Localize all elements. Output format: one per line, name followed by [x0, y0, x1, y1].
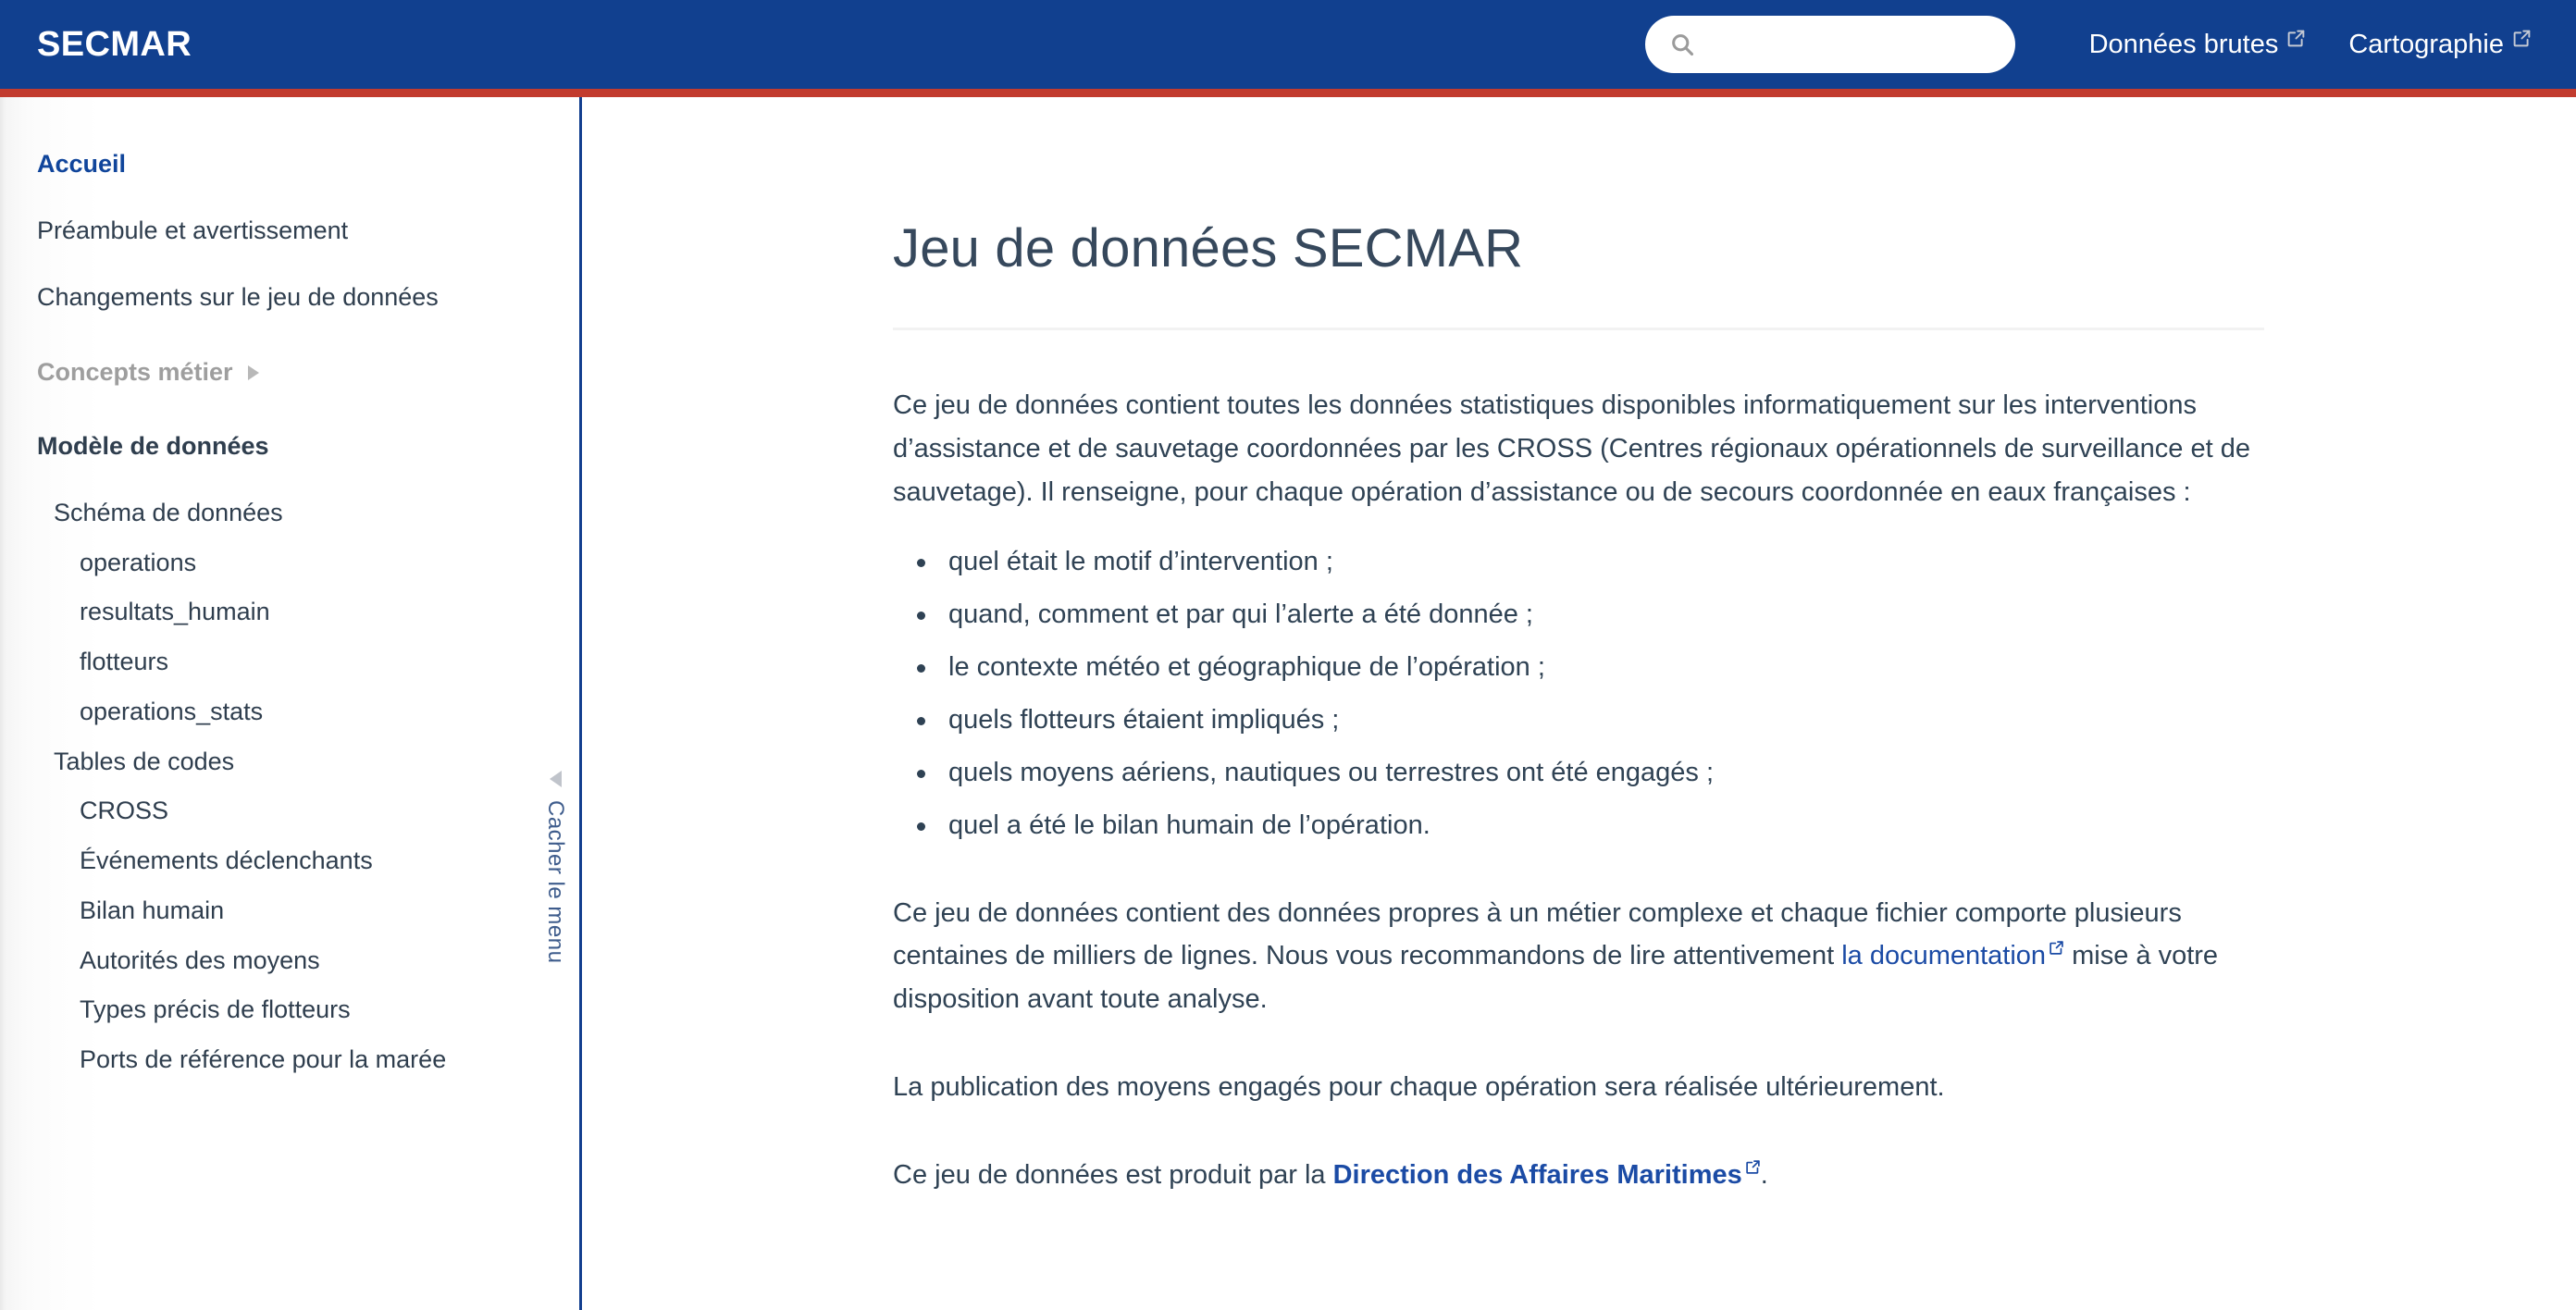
affaires-maritimes-link[interactable]: Direction des Affaires Maritimes — [1333, 1160, 1761, 1190]
producer-paragraph: Ce jeu de données est produit par la Dir… — [893, 1154, 2264, 1197]
sidebar-item-evenements-declenchants[interactable]: Événements déclenchants — [0, 836, 581, 886]
sidebar-group-label: Concepts métier — [37, 357, 233, 389]
main-content: Jeu de données SECMAR Ce jeu de données … — [581, 97, 2576, 1310]
app-root: SECMAR Données brutes Cartog — [0, 0, 2576, 1310]
external-link-icon — [1745, 1159, 1761, 1175]
search-input[interactable] — [1645, 16, 2015, 73]
list-item: quand, comment et par qui l’alerte a été… — [913, 593, 2264, 636]
caret-right-icon — [248, 365, 259, 380]
sidebar-list: Accueil Préambule et avertissement Chang… — [0, 140, 581, 1085]
list-item: quel a été le bilan humain de l’opératio… — [913, 804, 2264, 847]
publication-paragraph: La publication des moyens engagés pour c… — [893, 1066, 2264, 1109]
sidebar-item-schema-de-donnees[interactable]: Schéma de données — [0, 488, 581, 538]
documentation-link-label: la documentation — [1841, 941, 2046, 970]
external-link-icon — [2049, 940, 2064, 956]
sidebar-item-tables-de-codes[interactable]: Tables de codes — [0, 737, 581, 787]
sidebar-item-accueil[interactable]: Accueil — [0, 140, 581, 190]
hide-menu-label: Cacher le menu — [542, 800, 568, 963]
content-column: Jeu de données SECMAR Ce jeu de données … — [893, 97, 2264, 1197]
brand-title: SECMAR — [37, 27, 192, 62]
header-link-label: Données brutes — [2089, 31, 2279, 58]
external-link-icon — [2512, 29, 2532, 48]
sidebar-item-resultats-humain[interactable]: resultats_humain — [0, 587, 581, 637]
intro-paragraph: Ce jeu de données contient toutes les do… — [893, 384, 2264, 514]
accent-bar — [0, 89, 2576, 97]
header-link-donnees-brutes[interactable]: Données brutes — [2089, 31, 2307, 58]
producer-paragraph-text-after: . — [1761, 1160, 1768, 1190]
sidebar-item-autorites-des-moyens[interactable]: Autorités des moyens — [0, 936, 581, 986]
documentation-link[interactable]: la documentation — [1841, 941, 2064, 970]
site-header: SECMAR Données brutes Cartog — [0, 0, 2576, 89]
hide-menu-toggle[interactable]: Cacher le menu — [535, 771, 576, 963]
sidebar-group-modele-de-donnees[interactable]: Modèle de données — [0, 422, 581, 472]
header-link-cartographie[interactable]: Cartographie — [2348, 31, 2532, 58]
sidebar-item-cross[interactable]: CROSS — [0, 786, 581, 836]
external-link-icon — [2286, 29, 2306, 48]
sidebar-item-bilan-humain[interactable]: Bilan humain — [0, 886, 581, 936]
sidebar-item-changements[interactable]: Changements sur le jeu de données — [0, 273, 581, 323]
list-item: quels flotteurs étaient impliqués ; — [913, 698, 2264, 742]
feature-bullet-list: quel était le motif d’intervention ; qua… — [893, 540, 2264, 847]
producer-paragraph-text-before: Ce jeu de données est produit par la — [893, 1160, 1333, 1190]
sidebar-item-ports-de-reference[interactable]: Ports de référence pour la marée — [0, 1035, 581, 1085]
search-box[interactable] — [1645, 16, 2015, 73]
sidebar-item-preambule[interactable]: Préambule et avertissement — [0, 206, 581, 256]
sidebar-item-flotteurs[interactable]: flotteurs — [0, 637, 581, 687]
affaires-maritimes-link-label: Direction des Affaires Maritimes — [1333, 1160, 1742, 1190]
page-body: Accueil Préambule et avertissement Chang… — [0, 97, 2576, 1310]
sidebar-item-operations-stats[interactable]: operations_stats — [0, 687, 581, 737]
sidebar-navigation: Accueil Préambule et avertissement Chang… — [0, 97, 581, 1310]
header-link-label: Cartographie — [2348, 31, 2504, 58]
sidebar-group-concepts-metier[interactable]: Concepts métier — [0, 348, 581, 398]
page-title: Jeu de données SECMAR — [893, 219, 2264, 278]
caret-left-icon — [550, 771, 562, 787]
title-divider — [893, 327, 2264, 330]
list-item: quel était le motif d’intervention ; — [913, 540, 2264, 584]
documentation-paragraph: Ce jeu de données contient des données p… — [893, 892, 2264, 1022]
list-item: le contexte météo et géographique de l’o… — [913, 646, 2264, 689]
sidebar-item-operations[interactable]: operations — [0, 538, 581, 588]
sidebar-item-types-precis-de-flotteurs[interactable]: Types précis de flotteurs — [0, 985, 581, 1035]
sidebar-divider — [579, 97, 582, 1310]
list-item: quels moyens aériens, nautiques ou terre… — [913, 751, 2264, 795]
